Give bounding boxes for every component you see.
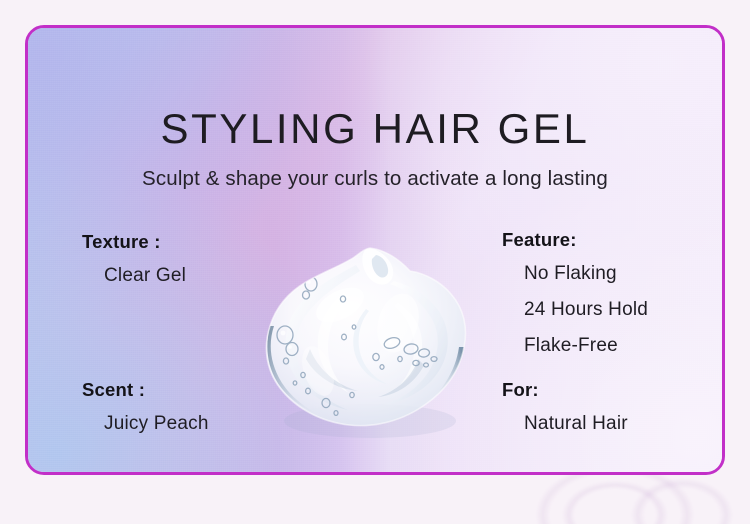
spec-texture: Texture : Clear Gel [82,233,186,285]
spec-texture-values: Clear Gel [82,266,186,285]
spec-feature: Feature: No Flaking 24 Hours Hold Flake-… [502,231,648,355]
spec-for-value: Natural Hair [524,414,628,433]
spec-for: For: Natural Hair [502,381,628,433]
ripple-watermark-secondary-icon [622,472,742,524]
product-infographic: STYLING HAIR GEL Sculpt & shape your cur… [0,0,750,524]
spec-for-label: For: [502,381,628,400]
spec-feature-values: No Flaking 24 Hours Hold Flake-Free [502,264,648,355]
spec-texture-label: Texture : [82,233,186,252]
spec-feature-value: 24 Hours Hold [524,300,648,319]
product-title: STYLING HAIR GEL [28,108,722,150]
spec-scent-values: Juicy Peach [82,414,209,433]
spec-scent-value: Juicy Peach [104,414,209,433]
card-content: STYLING HAIR GEL Sculpt & shape your cur… [28,28,722,472]
spec-texture-value: Clear Gel [104,266,186,285]
clear-hair-gel-blob-image [248,231,488,446]
product-card-frame: STYLING HAIR GEL Sculpt & shape your cur… [25,25,725,475]
spec-feature-label: Feature: [502,231,648,250]
spec-for-values: Natural Hair [502,414,628,433]
spec-scent: Scent : Juicy Peach [82,381,209,433]
spec-feature-value: No Flaking [524,264,648,283]
spec-scent-label: Scent : [82,381,209,400]
spec-feature-value: Flake-Free [524,336,648,355]
product-subtitle: Sculpt & shape your curls to activate a … [28,169,722,190]
